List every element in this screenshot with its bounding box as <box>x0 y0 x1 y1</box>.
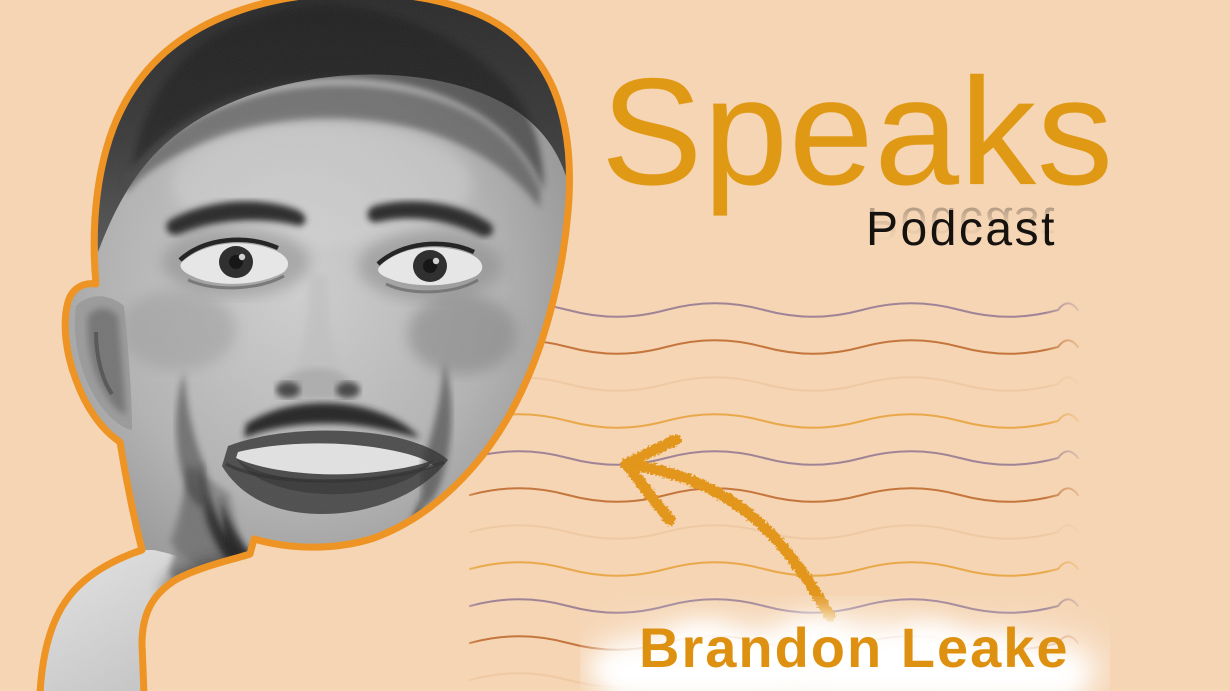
subtitle-reflection: Podcast <box>866 199 1057 247</box>
subtitle-block: Podcast Podcast <box>866 206 1086 302</box>
podcast-cover-poster: Speaks Podcast Podcast Brandon Leake <box>0 0 1230 691</box>
host-portrait <box>0 0 632 691</box>
page-title: Speaks <box>601 56 1114 208</box>
host-name: Brandon Leake <box>639 620 1070 676</box>
